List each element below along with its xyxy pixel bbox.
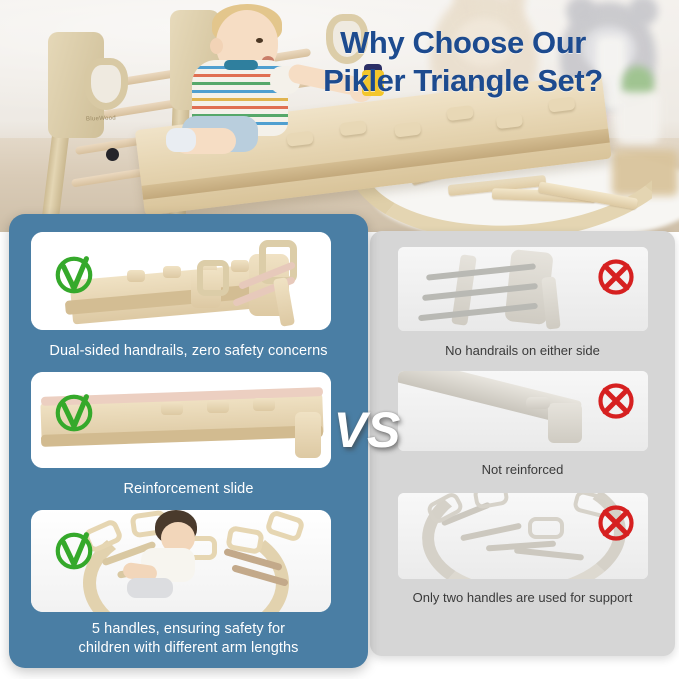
climbing-bump bbox=[231, 260, 249, 272]
pros-panel: Dual-sided handrails, zero safety concer… bbox=[9, 214, 368, 668]
grey-ramp-foot bbox=[548, 403, 582, 443]
title-line-2: Pikler Triangle Set? bbox=[263, 62, 663, 100]
climbing-bump bbox=[446, 105, 473, 121]
triangle-side-panel-left: BlueWood bbox=[48, 32, 104, 138]
title-line-1: Why Choose Our bbox=[340, 25, 586, 60]
red-x-circle-icon bbox=[596, 503, 636, 543]
adjust-knob bbox=[106, 148, 119, 161]
toddler-ear bbox=[210, 38, 223, 54]
toddler-sock bbox=[166, 128, 196, 152]
vs-divider-label: VS bbox=[330, 398, 404, 462]
page-title: Why Choose Our Pikler Triangle Set? bbox=[263, 24, 663, 100]
climbing-bump bbox=[127, 270, 145, 282]
cons-panel: No handrails on either side Not reinforc… bbox=[370, 231, 675, 656]
climbing-bump bbox=[161, 402, 183, 415]
grey-handle bbox=[528, 517, 564, 539]
pro-caption-3-line-2: children with different arm lengths bbox=[9, 639, 368, 658]
handle-hole bbox=[197, 260, 229, 296]
child-shorts bbox=[127, 578, 173, 598]
toddler-collar bbox=[224, 60, 258, 70]
climbing-bump bbox=[394, 122, 421, 138]
shirt-stripe bbox=[192, 106, 288, 109]
pro-caption-3-line-1: 5 handles, ensuring safety for bbox=[9, 620, 368, 639]
green-check-circle-icon bbox=[53, 392, 95, 434]
climbing-bump bbox=[253, 398, 275, 411]
handle-hole-left bbox=[84, 58, 128, 110]
slide-foot bbox=[295, 412, 321, 458]
red-x-circle-icon bbox=[596, 257, 636, 297]
brand-logo-text: BlueWood bbox=[86, 115, 116, 122]
pro-caption-2: Reinforcement slide bbox=[9, 480, 368, 499]
green-check-circle-icon bbox=[53, 254, 95, 296]
climbing-bump bbox=[496, 113, 523, 129]
red-x-circle-icon bbox=[596, 381, 636, 421]
con-caption-2: Not reinforced bbox=[370, 462, 675, 479]
climbing-bump bbox=[207, 400, 229, 413]
con-caption-3: Only two handles are used for support bbox=[370, 590, 675, 607]
toddler-eye bbox=[256, 38, 263, 43]
pro-caption-1: Dual-sided handrails, zero safety concer… bbox=[9, 342, 368, 361]
con-caption-1: No handrails on either side bbox=[370, 343, 675, 360]
green-check-circle-icon bbox=[53, 530, 95, 572]
climbing-bump bbox=[163, 266, 181, 278]
infographic-page: BlueWood bbox=[0, 0, 679, 679]
grey-ramp-hook bbox=[526, 397, 550, 409]
